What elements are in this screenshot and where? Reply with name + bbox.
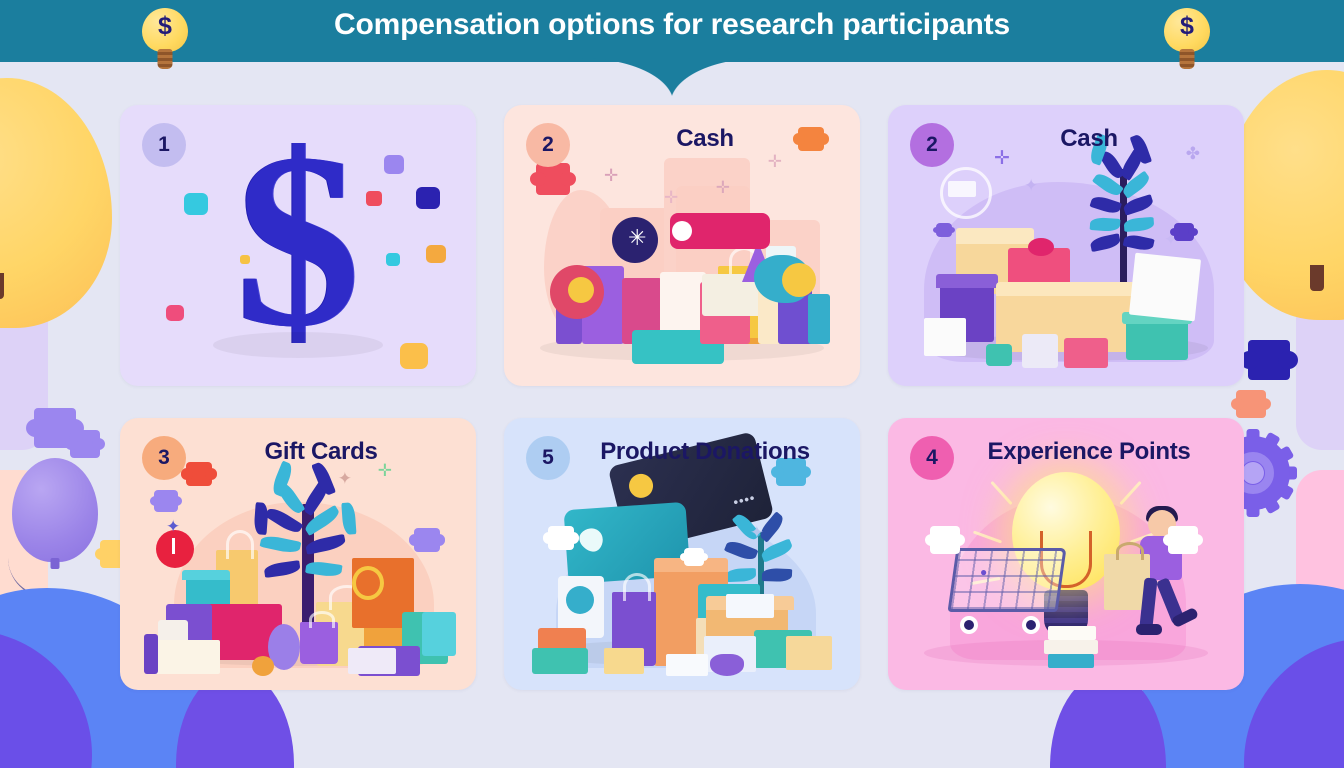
puzzle-piece-icon [70,430,100,458]
card-product-donations[interactable]: •••• [504,418,860,690]
lightbulb-dollar-icon-left: $ [142,8,188,60]
card-badge-2: 2 [526,123,570,167]
infographic-root: Compensation options for research partic… [0,0,1344,768]
side-panel-left-top [0,150,48,450]
side-panel-right-bottom [1296,470,1344,720]
card-badge-1: 1 [142,123,186,167]
puzzle-piece-icon [34,408,76,448]
card-badge-3: 2 [910,123,954,167]
puzzle-piece-icon [1236,390,1266,418]
card-badge-6: 4 [910,436,954,480]
card-grid: $ 1 [120,105,1236,690]
side-panel-left-bottom [0,470,48,700]
purple-balloon-icon [12,458,98,562]
card-badge-4: 3 [142,436,186,480]
puzzle-piece-icon [1248,340,1290,380]
purple-blob [1244,638,1344,768]
dollar-symbol: $ [142,12,188,41]
dollar-symbol: $ [1164,12,1210,41]
page-title: Compensation options for research partic… [0,8,1344,42]
card-cash-gifts[interactable]: ✛ ✦ ✤ ✦ 2 Cash [888,105,1244,386]
header-banner: Compensation options for research partic… [0,0,1344,62]
card-gift-cards[interactable]: ✛ ✦ ✦ 3 Gift Cards [120,418,476,690]
lightbulb-dollar-icon-right: $ [1164,8,1210,60]
yellow-balloon-left-icon [0,78,112,328]
purple-blob [0,630,92,768]
balloon-string [8,556,60,598]
header-notch [582,58,762,104]
side-panel-right-top [1296,150,1344,450]
card-dollar[interactable]: $ 1 [120,105,476,386]
shopping-cart-icon [936,548,1056,634]
card-badge-5: 5 [526,436,570,480]
card-cash-products[interactable]: ✳ ✛ ✛ ✛ ✛ 2 Cash [504,105,860,386]
card-experience-points[interactable]: ● 4 Experience Points [888,418,1244,690]
